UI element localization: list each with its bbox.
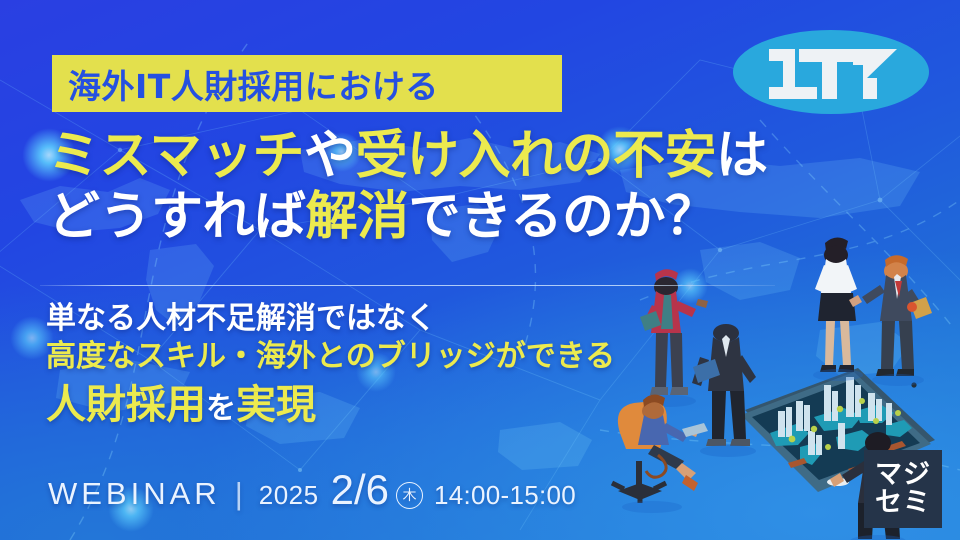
subtitle-line-3: 人財採用を実現 <box>46 379 686 431</box>
page-title: ミスマッチや受け入れの不安は どうすれば解消できるのか？ <box>48 126 808 248</box>
title-seg: 不安 <box>613 126 716 186</box>
subtitle-seg: 実現 <box>236 382 316 428</box>
subtitle-block: 単なる人材不足解消ではなく 高度なスキル・海外とのブリッジができる 人財採用を実… <box>46 300 686 431</box>
title-seg: できるのか？ <box>409 187 717 247</box>
title-seg: や <box>304 126 356 186</box>
title-seg: ミスマッチ <box>48 126 304 186</box>
title-seg: どうすれば <box>48 187 306 247</box>
webinar-schedule: WEBINAR | 2025 2/6 木 14:00-15:00 <box>48 466 576 514</box>
title-line-1: ミスマッチや受け入れの不安は <box>48 126 808 187</box>
separator: | <box>235 476 243 512</box>
day-of-week-badge: 木 <box>396 482 423 509</box>
badge-line-1: マジ <box>875 461 931 489</box>
headline-band: 海外IT人財採用における <box>52 55 562 112</box>
title-seg: 解消 <box>306 187 409 247</box>
badge-line-2: セミ <box>875 489 931 517</box>
majisemi-badge: マジ セミ <box>864 450 942 528</box>
divider <box>40 285 775 286</box>
person-figure <box>813 237 863 381</box>
webinar-year: 2025 <box>259 480 319 511</box>
webinar-date: 2/6 <box>331 466 389 514</box>
subtitle-seg: を <box>206 391 236 426</box>
title-line-2: どうすれば解消できるのか？ <box>48 187 808 248</box>
title-seg: 受け入れの <box>355 126 613 186</box>
subtitle-seg: 人財採用 <box>46 382 206 428</box>
person-figure <box>692 324 756 457</box>
person-figure <box>849 255 932 386</box>
title-seg: は <box>716 126 768 186</box>
subtitle-line-2: 高度なスキル・海外とのブリッジができる <box>46 338 686 376</box>
webinar-time: 14:00-15:00 <box>434 480 576 511</box>
subtitle-line-1: 単なる人材不足解消ではなく <box>46 300 686 338</box>
webinar-label: WEBINAR <box>48 476 221 512</box>
webinar-banner: JTP 海外IT人財採用における ミスマッチや受け入れの不安は どうすれば解消で… <box>0 0 960 540</box>
jtp-logo: JTP <box>731 26 931 118</box>
headline-band-text: 海外IT人財採用における <box>68 60 439 108</box>
